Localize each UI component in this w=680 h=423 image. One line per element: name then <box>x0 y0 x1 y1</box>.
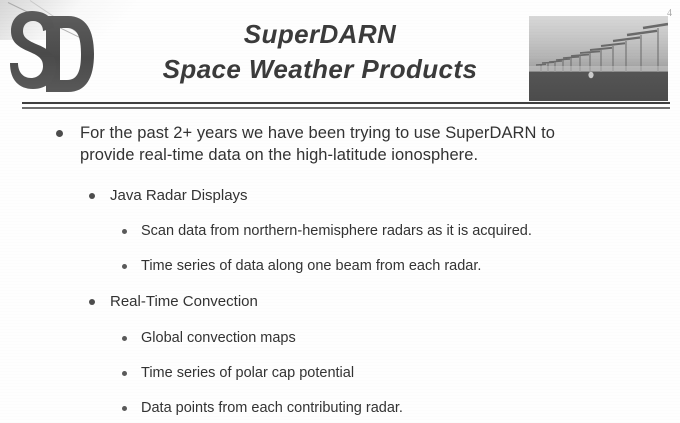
bullet-item: Time series of data along one beam from … <box>122 257 680 276</box>
bullet-text: Data points from each contributing radar… <box>141 399 680 418</box>
bullet-text: Scan data from northern-hemisphere radar… <box>141 222 680 241</box>
bullet-item: Scan data from northern-hemisphere radar… <box>122 222 680 241</box>
bullet-dot-icon <box>122 406 127 411</box>
bullet-text: Time series of polar cap potential <box>141 364 680 383</box>
superdarn-sd-monogram-logo <box>10 8 96 100</box>
page-corner-mark: 4 <box>667 8 672 19</box>
page-title: SuperDARN Space Weather Products <box>130 18 510 86</box>
bullet-dot-icon <box>122 229 127 234</box>
bullet-item: Real-Time Convection <box>89 292 680 312</box>
header-divider-top <box>22 102 670 104</box>
presentation-slide: SuperDARN Space Weather Products <box>0 0 680 423</box>
title-line-primary: SuperDARN <box>130 18 510 50</box>
bullet-item: For the past 2+ years we have been tryin… <box>56 122 680 166</box>
bullet-dot-icon <box>122 336 127 341</box>
bullet-text: Time series of data along one beam from … <box>141 257 680 276</box>
radar-antenna-array-photo <box>529 16 668 101</box>
bullet-text: Real-Time Convection <box>110 292 680 312</box>
bullet-dot-icon <box>122 371 127 376</box>
bullet-text: Global convection maps <box>141 329 680 348</box>
bullet-item: Data points from each contributing radar… <box>122 399 680 418</box>
bullet-text: Java Radar Displays <box>110 186 680 206</box>
header-divider-bottom <box>22 107 670 109</box>
slide-body: For the past 2+ years we have been tryin… <box>0 122 680 422</box>
bullet-dot-icon <box>56 130 63 137</box>
slide-header: SuperDARN Space Weather Products <box>0 0 680 102</box>
bullet-dot-icon <box>89 193 95 199</box>
bullet-item: Java Radar Displays <box>89 186 680 206</box>
bullet-dot-icon <box>122 264 127 269</box>
title-line-secondary: Space Weather Products <box>130 52 510 86</box>
bullet-text: For the past 2+ years we have been tryin… <box>80 122 592 166</box>
bullet-item: Time series of polar cap potential <box>122 364 680 383</box>
bullet-dot-icon <box>89 299 95 305</box>
bullet-item: Global convection maps <box>122 329 680 348</box>
